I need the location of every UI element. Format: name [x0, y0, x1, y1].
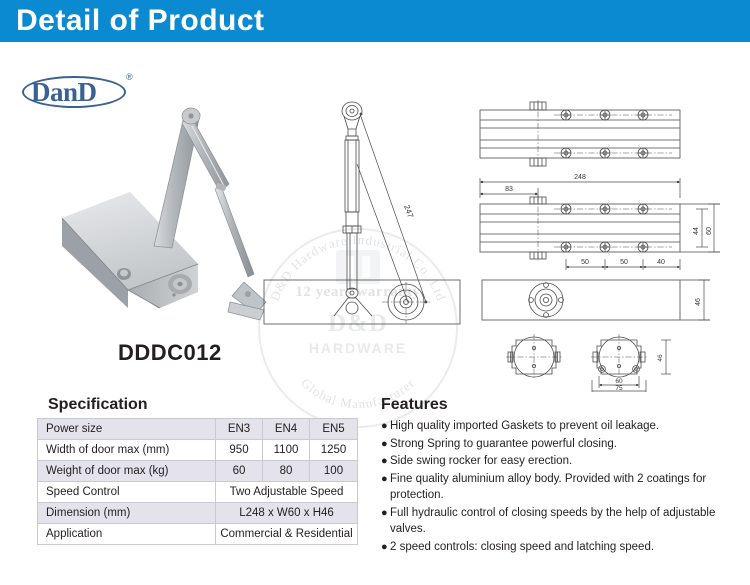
- drawing-body-end-sections: 46 60 75: [494, 330, 694, 392]
- bullet-icon: ●: [381, 453, 388, 470]
- drawing-arm-assembly-side-view: 247: [262, 94, 462, 326]
- spec-row-value: EN5: [310, 419, 358, 440]
- dimension-label-50-b: 50: [620, 259, 628, 266]
- dimension-label-75-end: 75: [615, 385, 623, 392]
- bullet-icon: ●: [381, 505, 388, 522]
- table-row: Width of door max (mm)95011001250: [38, 440, 358, 461]
- spec-row-value: 1100: [263, 440, 310, 461]
- spec-row-value: 80: [263, 461, 310, 482]
- page-title: Detail of Product: [16, 4, 265, 38]
- spec-row-value: 1250: [310, 440, 358, 461]
- features-list: ●High quality imported Gaskets to preven…: [381, 418, 747, 556]
- dimension-label-44: 44: [693, 227, 700, 235]
- drawing-body-side-elevation: 46: [478, 272, 750, 330]
- header-banner: Detail of Product: [0, 0, 750, 42]
- feature-text: Fine quality aluminium alloy body. Provi…: [390, 473, 706, 502]
- dimension-label-50-a: 50: [581, 259, 589, 266]
- list-item: ●Fine quality aluminium alloy body. Prov…: [381, 471, 747, 504]
- spec-row-label: Speed Control: [38, 482, 216, 503]
- spec-row-value: EN4: [263, 419, 310, 440]
- spec-row-label: Dimension (mm): [38, 503, 216, 524]
- spec-row-label: Weight of door max (kg): [38, 461, 216, 482]
- bullet-icon: ●: [381, 539, 388, 556]
- table-row: Dimension (mm)L248 x W60 x H46: [38, 503, 358, 524]
- list-item: ●2 speed controls: closing speed and lat…: [381, 539, 747, 556]
- spec-row-value: EN3: [216, 419, 263, 440]
- feature-text: 2 speed controls: closing speed and latc…: [390, 541, 654, 553]
- registered-trademark-icon: ®: [126, 72, 133, 82]
- list-item: ●Strong Spring to guarantee powerful clo…: [381, 436, 747, 453]
- spec-row-value: Two Adjustable Speed: [216, 482, 358, 503]
- features-heading: Features: [381, 396, 448, 414]
- list-item: ●High quality imported Gaskets to preven…: [381, 418, 747, 435]
- bullet-icon: ●: [381, 471, 388, 488]
- dimension-label-40: 40: [657, 259, 665, 266]
- specification-heading: Specification: [48, 396, 148, 414]
- spec-row-value: 950: [216, 440, 263, 461]
- table-row: Weight of door max (kg)6080100: [38, 461, 358, 482]
- table-row: Power sizeEN3EN4EN5: [38, 419, 358, 440]
- spec-row-value: L248 x W60 x H46: [216, 503, 358, 524]
- spec-row-label: Application: [38, 524, 216, 545]
- dimension-label-60: 60: [706, 227, 713, 235]
- dimension-label-83: 83: [505, 186, 513, 193]
- feature-text: Full hydraulic control of closing speeds…: [390, 507, 715, 536]
- bullet-icon: ●: [381, 436, 388, 453]
- specification-table: Power sizeEN3EN4EN5Width of door max (mm…: [37, 418, 358, 545]
- dimension-label-46-side: 46: [695, 298, 702, 306]
- product-model-name: DDDC012: [118, 340, 222, 366]
- feature-text: Strong Spring to guarantee powerful clos…: [390, 438, 617, 450]
- bullet-icon: ●: [381, 418, 388, 435]
- dimension-label-46-end: 46: [657, 354, 664, 362]
- table-row: Speed ControlTwo Adjustable Speed: [38, 482, 358, 503]
- feature-text: Side swing rocker for easy erection.: [390, 455, 572, 467]
- spec-row-value: 100: [310, 461, 358, 482]
- product-photo: [58, 96, 278, 332]
- list-item: ●Side swing rocker for easy erection.: [381, 453, 747, 470]
- dimension-label-247: 247: [402, 204, 415, 220]
- spec-row-value: 60: [216, 461, 263, 482]
- table-row: ApplicationCommercial & Residential: [38, 524, 358, 545]
- watermark-sub-text: HARDWARE: [258, 340, 458, 356]
- specification-table-body: Power sizeEN3EN4EN5Width of door max (mm…: [38, 419, 358, 545]
- drawing-body-top-view: [462, 96, 750, 176]
- spec-row-label: Power size: [38, 419, 216, 440]
- list-item: ●Full hydraulic control of closing speed…: [381, 505, 747, 538]
- drawing-body-dimensioned-plan-view: 248 83: [462, 168, 750, 276]
- spec-row-label: Width of door max (mm): [38, 440, 216, 461]
- spec-row-value: Commercial & Residential: [216, 524, 358, 545]
- feature-text: High quality imported Gaskets to prevent…: [390, 420, 659, 432]
- dimension-label-60-end: 60: [615, 378, 623, 385]
- dimension-label-248: 248: [574, 174, 586, 181]
